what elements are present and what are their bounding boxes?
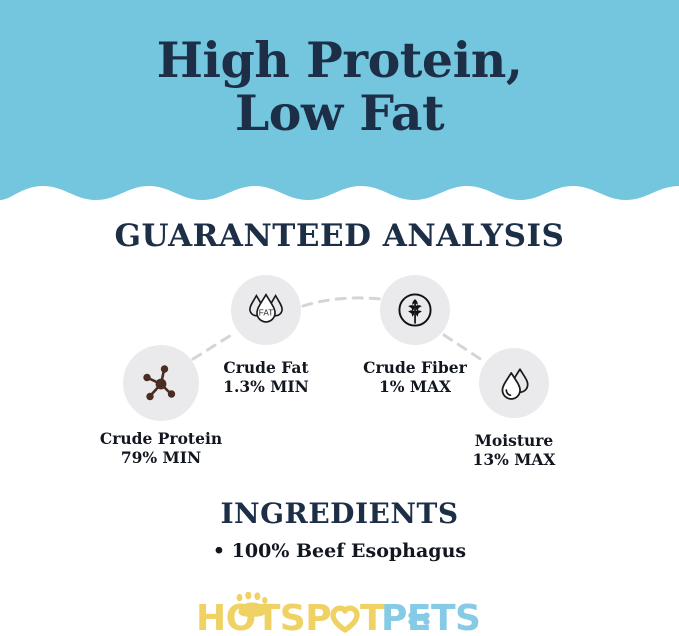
connector-protein-fat [193,332,236,359]
crude-fiber-bubble [380,275,450,345]
crude-fat-bubble: FAT [231,275,301,345]
crude-protein-value: 79% MIN [61,448,261,467]
product-infographic: High Protein, Low Fat GUARANTEED ANALYSI… [0,0,679,636]
crude-fat-name: Crude Fat [223,358,308,377]
logo-text-hotspot: HOTSP [196,598,331,636]
moisture-bubble [479,348,549,418]
moisture-droplets-icon [492,361,536,405]
moisture-label: Moisture 13% MAX [414,431,614,469]
ingredient-list-item: • 100% Beef Esophagus [0,540,679,562]
heart-icon [333,608,357,630]
hero-title-line-2: Low Fat [0,87,679,140]
fat-icon-text: FAT [259,308,274,317]
hero-title-line-1: High Protein, [157,31,523,89]
crude-protein-label: Crude Protein 79% MIN [61,429,261,467]
crude-fiber-name: Crude Fiber [363,358,467,377]
ingredients-heading: INGREDIENTS [0,497,679,530]
hero-banner: High Protein, Low Fat [0,0,679,205]
moisture-name: Moisture [475,431,554,450]
hotspotpets-logo-icon: HOTSP T PETS [192,592,488,636]
fiber-wheat-icon [393,288,437,332]
crude-protein-name: Crude Protein [100,429,222,448]
fat-droplets-icon: FAT [243,287,289,333]
brand-logo: HOTSP T PETS [0,592,679,636]
logo-text-pets: PETS [381,598,480,636]
guaranteed-analysis-diagram: Crude Protein 79% MIN FAT Crude Fat 1.3%… [0,262,679,482]
moisture-value: 13% MAX [414,450,614,469]
guaranteed-analysis-heading: GUARANTEED ANALYSIS [0,218,679,254]
hero-title: High Protein, Low Fat [0,34,679,140]
